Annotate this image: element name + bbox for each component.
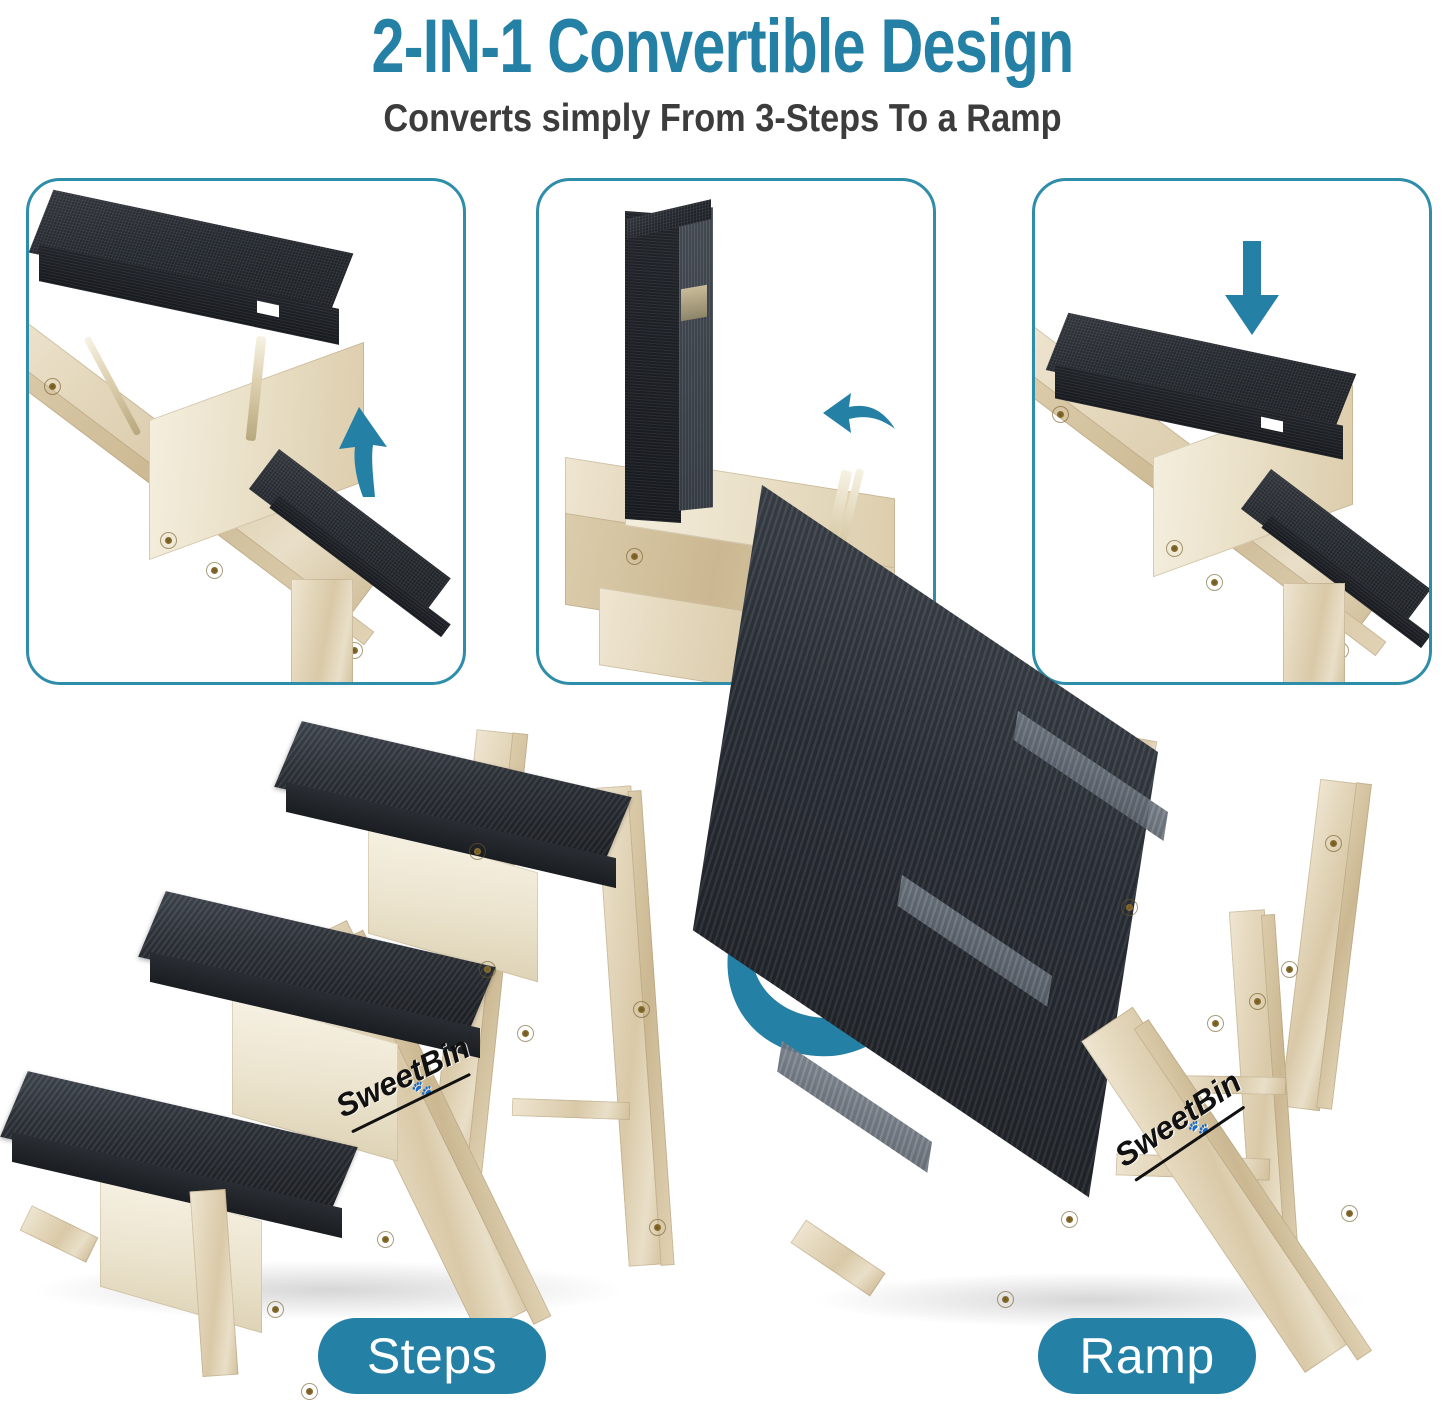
screw	[1062, 1212, 1077, 1227]
arrow-up-icon	[325, 403, 411, 499]
screw	[378, 1232, 393, 1247]
screw	[1326, 836, 1341, 851]
front-leg	[1283, 583, 1345, 685]
front-leg	[291, 579, 353, 685]
arrow-left-icon	[821, 387, 897, 451]
screw	[207, 563, 222, 578]
infographic-page: 2-IN-1 Convertible Design Converts simpl…	[0, 0, 1445, 1402]
arrow-down-icon	[1221, 239, 1283, 337]
steps-product: SweetBin 🐾	[0, 720, 700, 1320]
screw	[268, 1302, 283, 1317]
page-subtitle: Converts simply From 3-Steps To a Ramp	[87, 96, 1359, 142]
ramp-caption-label: Ramp	[1079, 1327, 1214, 1385]
front-left-foot	[20, 1205, 99, 1263]
screw	[302, 1384, 317, 1399]
screw	[1208, 1016, 1223, 1031]
steps-caption-badge: Steps	[318, 1318, 546, 1394]
screw	[1207, 575, 1222, 590]
screw	[45, 379, 60, 394]
screw	[650, 1220, 665, 1235]
screw	[1250, 994, 1265, 1009]
folded-step-side-face	[679, 207, 713, 511]
page-title: 2-IN-1 Convertible Design	[159, 6, 1286, 88]
ramp-product: SweetBin 🐾	[770, 724, 1445, 1324]
screw	[470, 844, 485, 859]
folded-step-gap	[681, 285, 707, 322]
screw	[480, 962, 495, 977]
screw	[1122, 900, 1137, 915]
cross-brace	[512, 1098, 631, 1120]
screw	[1282, 962, 1297, 977]
screw	[627, 549, 642, 564]
screw	[161, 533, 176, 548]
steps-caption-label: Steps	[367, 1327, 497, 1385]
product-comparison-row: SweetBin 🐾	[0, 700, 1445, 1402]
screw	[1053, 407, 1068, 422]
panel-lower-step	[1032, 178, 1432, 685]
screw	[518, 1026, 533, 1041]
detail-panels-row	[0, 178, 1445, 690]
screw	[1167, 541, 1182, 556]
panel-lift-step-illustration	[29, 181, 463, 682]
ramp-front-foot	[790, 1220, 885, 1297]
screw	[1342, 1206, 1357, 1221]
screw	[998, 1292, 1013, 1307]
panel-lift-step	[26, 178, 466, 685]
folded-step-front-face	[625, 211, 681, 523]
panel-lower-step-illustration	[1035, 181, 1429, 682]
screw	[634, 1002, 649, 1017]
ramp-caption-badge: Ramp	[1038, 1318, 1256, 1394]
